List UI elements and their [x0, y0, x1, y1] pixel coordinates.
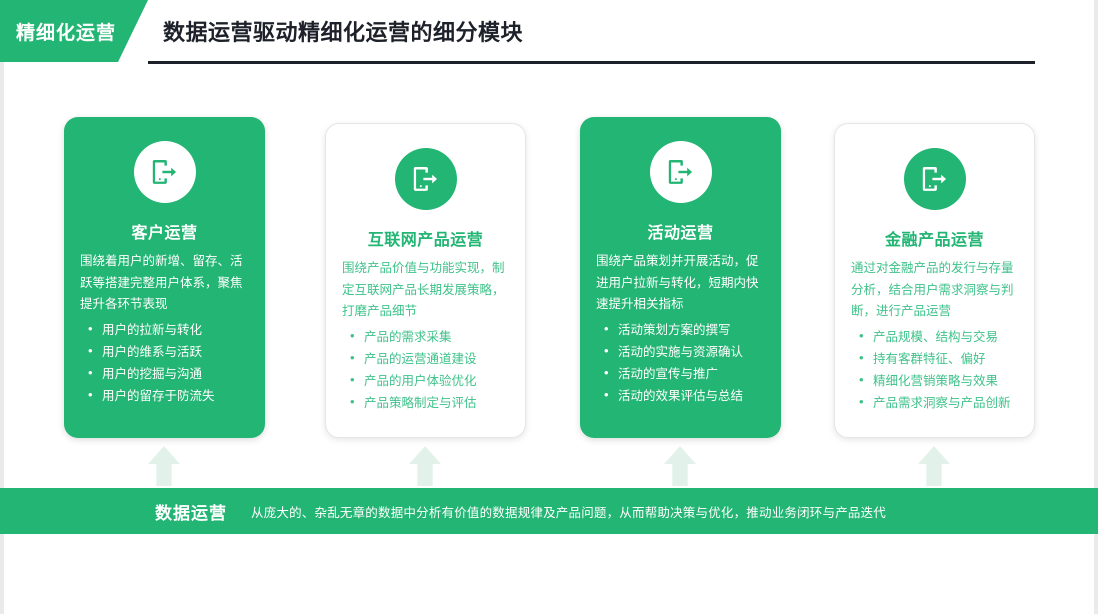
footer-description: 从庞大的、杂乱无章的数据中分析有价值的数据规律及产品问题，从而帮助决策与优化，推… — [251, 502, 886, 521]
card-description: 围绕产品策划并开展活动，促进用户拉新与转化，短期内快速提升相关指标 — [594, 251, 767, 316]
card-title: 金融产品运营 — [849, 226, 1020, 250]
card-grid: 客户运营 围绕着用户的新增、留存、活跃等搭建完整用户体系，聚焦提升各环节表现 用… — [0, 117, 1098, 438]
header-tag-label: 精细化运营 — [0, 18, 116, 45]
card-bullet-list: 产品的需求采集 产品的运营通道建设 产品的用户体验优化 产品策略制定与评估 — [340, 326, 511, 414]
card-bullet-list: 用户的拉新与转化 用户的维系与活跃 用户的挖掘与沟通 用户的留存于防流失 — [78, 319, 251, 407]
mobile-exit-icon — [650, 141, 712, 203]
list-item: 产品的需求采集 — [348, 326, 511, 348]
card-description: 围绕着用户的新增、留存、活跃等搭建完整用户体系，聚焦提升各环节表现 — [78, 251, 251, 316]
list-item: 用户的拉新与转化 — [86, 319, 251, 341]
list-item: 持有客群特征、偏好 — [857, 348, 1020, 370]
up-arrow-connector-3 — [664, 446, 696, 486]
page-title: 数据运营驱动精细化运营的细分模块 — [163, 0, 523, 62]
page-header: 精细化运营 数据运营驱动精细化运营的细分模块 — [0, 0, 1098, 62]
footer-data-operations-bar: 数据运营 从庞大的、杂乱无章的数据中分析有价值的数据规律及产品问题，从而帮助决策… — [0, 488, 1098, 534]
list-item: 活动的实施与资源确认 — [602, 341, 767, 363]
up-arrow-connector-4 — [918, 446, 950, 486]
card-description: 通过对金融产品的发行与存量分析，结合用户需求洞察与判断，进行产品运营 — [849, 258, 1020, 323]
list-item: 精细化营销策略与效果 — [857, 370, 1020, 392]
footer-title: 数据运营 — [155, 499, 227, 524]
list-item: 产品需求洞察与产品创新 — [857, 392, 1020, 414]
up-arrow-connector-2 — [409, 446, 441, 486]
card-campaign-operations[interactable]: 活动运营 围绕产品策划并开展活动，促进用户拉新与转化，短期内快速提升相关指标 活… — [580, 117, 781, 438]
header-divider — [148, 61, 1035, 64]
mobile-exit-icon — [904, 148, 966, 210]
card-title: 互联网产品运营 — [340, 226, 511, 250]
list-item: 用户的维系与活跃 — [86, 341, 251, 363]
list-item: 产品的运营通道建设 — [348, 348, 511, 370]
card-financial-product-operations[interactable]: 金融产品运营 通过对金融产品的发行与存量分析，结合用户需求洞察与判断，进行产品运… — [834, 123, 1035, 438]
card-title: 客户运营 — [78, 219, 251, 243]
page-title-text: 数据运营驱动精细化运营的细分模块 — [163, 15, 523, 47]
list-item: 产品的用户体验优化 — [348, 370, 511, 392]
up-arrow-connector-1 — [148, 446, 180, 486]
card-description: 围绕产品价值与功能实现，制定互联网产品长期发展策略，打磨产品细节 — [340, 258, 511, 323]
card-title: 活动运营 — [594, 219, 767, 243]
card-customer-operations[interactable]: 客户运营 围绕着用户的新增、留存、活跃等搭建完整用户体系，聚焦提升各环节表现 用… — [64, 117, 265, 438]
list-item: 用户的挖掘与沟通 — [86, 363, 251, 385]
list-item: 产品策略制定与评估 — [348, 392, 511, 414]
card-bullet-list: 活动策划方案的撰写 活动的实施与资源确认 活动的宣传与推广 活动的效果评估与总结 — [594, 319, 767, 407]
list-item: 活动的宣传与推广 — [602, 363, 767, 385]
card-bullet-list: 产品规模、结构与交易 持有客群特征、偏好 精细化营销策略与效果 产品需求洞察与产… — [849, 326, 1020, 414]
list-item: 活动的效果评估与总结 — [602, 385, 767, 407]
header-tag-badge: 精细化运营 — [0, 0, 148, 62]
list-item: 用户的留存于防流失 — [86, 385, 251, 407]
card-internet-product-operations[interactable]: 互联网产品运营 围绕产品价值与功能实现，制定互联网产品长期发展策略，打磨产品细节… — [325, 123, 526, 438]
mobile-exit-icon — [395, 148, 457, 210]
list-item: 活动策划方案的撰写 — [602, 319, 767, 341]
list-item: 产品规模、结构与交易 — [857, 326, 1020, 348]
mobile-exit-icon — [134, 141, 196, 203]
